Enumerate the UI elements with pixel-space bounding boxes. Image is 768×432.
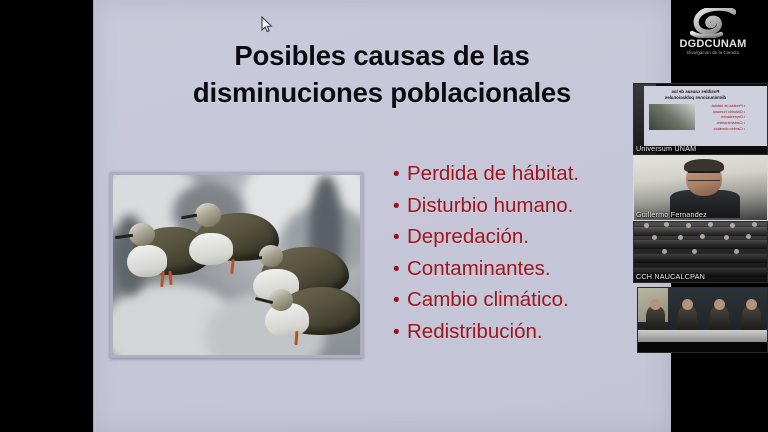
dgdc-unam-logo: DGDCUNAM Divulgación de la Ciencia xyxy=(667,8,759,64)
bullet-text: Redistribución. xyxy=(407,318,543,345)
thumbnail-guillermo-fernandez[interactable]: Guillermo Fernandez xyxy=(633,155,768,221)
thumbnail-slide-photo xyxy=(649,104,695,130)
bullet-text: Cambio climático. xyxy=(407,286,569,313)
dgdc-swirl-icon xyxy=(690,8,736,38)
list-item: • Contaminantes. xyxy=(393,255,663,282)
list-item: • Cambio climático. xyxy=(393,286,663,313)
list-item: • Disturbio humano. xyxy=(393,192,663,219)
shorebirds-photo xyxy=(110,172,363,358)
bullet-marker-icon: • xyxy=(393,323,407,342)
bullet-text: Disturbio humano. xyxy=(407,192,573,219)
foreground-shadow xyxy=(638,342,767,352)
eyeglasses-icon xyxy=(688,171,720,181)
bullet-marker-icon: • xyxy=(393,228,407,247)
mouse-pointer-icon xyxy=(261,16,273,34)
videoconference-screen: Posibles causas de las disminuciones pob… xyxy=(0,0,768,432)
thumbnail-slide-bullets: • Perdida de hábitat. • Disturbio humano… xyxy=(711,104,745,132)
bullet-marker-icon: • xyxy=(393,260,407,279)
slide-title: Posibles causas de las disminuciones pob… xyxy=(107,38,657,112)
bird-4 xyxy=(277,287,360,335)
list-item: • Redistribución. xyxy=(393,318,663,345)
bullet-text: Perdida de hábitat. xyxy=(407,160,579,187)
thumbnail-panel[interactable] xyxy=(637,287,768,353)
bullet-text: Depredación. xyxy=(407,223,529,250)
bullet-marker-icon: • xyxy=(393,197,407,216)
logo-name: DGDCUNAM xyxy=(667,39,759,50)
conference-table xyxy=(638,330,767,342)
slide-bullet-list: • Perdida de hábitat. • Disturbio humano… xyxy=(393,160,663,349)
thumbnail-label: Guillermo Fernandez xyxy=(636,210,707,219)
list-item: • Depredación. xyxy=(393,223,663,250)
thumbnail-universum-unam[interactable]: Posibles causas de las disminuciones pob… xyxy=(633,83,768,155)
slide-title-line-2: disminuciones poblacionales xyxy=(107,75,657,112)
logo-subtitle: Divulgación de la Ciencia xyxy=(667,51,759,55)
thumbnail-slide-title: Posibles causas de las disminuciones pob… xyxy=(646,89,745,101)
presentation-slide[interactable]: Posibles causas de las disminuciones pob… xyxy=(93,0,671,432)
bullet-text: Contaminantes. xyxy=(407,255,551,282)
shorebirds-photo-image xyxy=(113,175,360,355)
thumbnail-shared-slide: Posibles causas de las disminuciones pob… xyxy=(644,86,767,146)
thumbnail-cch-naucalpan[interactable]: CCH NAUCALCPAN xyxy=(633,221,768,283)
bullet-marker-icon: • xyxy=(393,291,407,310)
list-item: • Perdida de hábitat. xyxy=(393,160,663,187)
slide-title-line-1: Posibles causas de las xyxy=(107,38,657,75)
thumbnail-label: CCH NAUCALCPAN xyxy=(636,272,705,281)
thumbnail-label: Universum UNAM xyxy=(636,144,696,153)
bullet-marker-icon: • xyxy=(393,165,407,184)
